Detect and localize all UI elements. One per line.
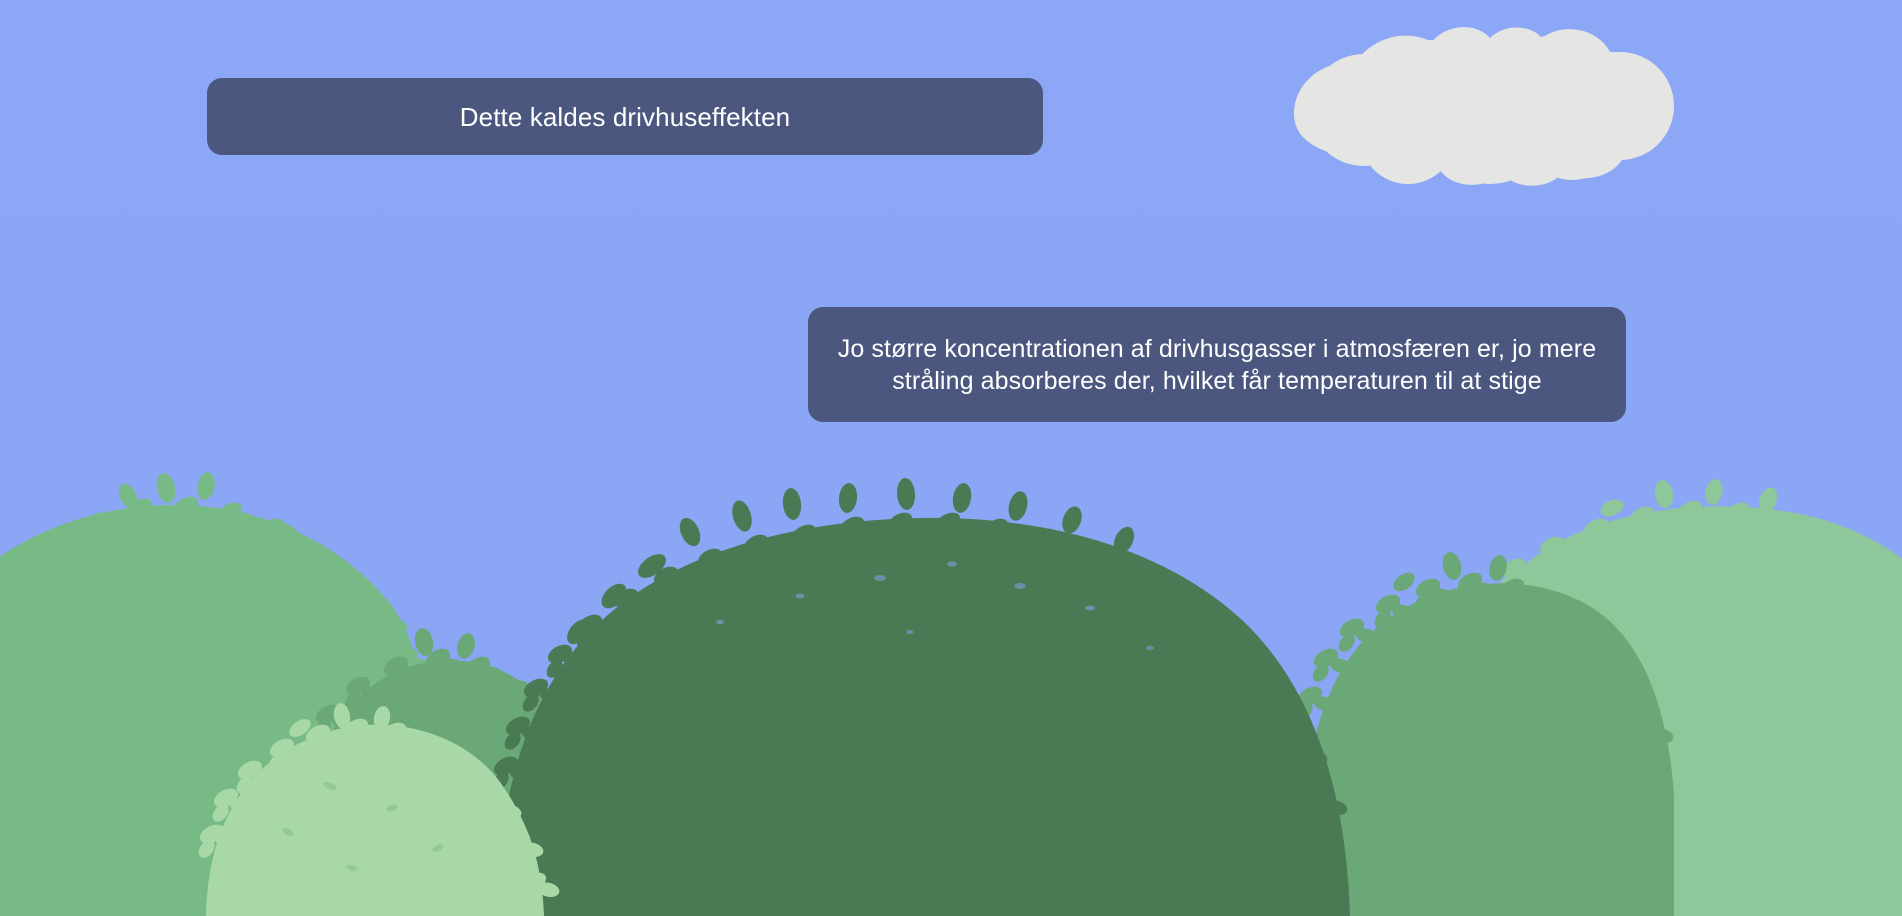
greenhouse-effect-scene: Dette kaldes drivhuseffekten Jo større k…: [0, 0, 1902, 916]
bush-foliage: [0, 436, 1902, 916]
cloud-icon: [1280, 18, 1700, 198]
explanation-text: Jo større koncentrationen af drivhusgass…: [808, 333, 1626, 397]
headline-text-panel: Dette kaldes drivhuseffekten: [207, 78, 1043, 155]
bush-front-center: [489, 477, 1350, 916]
headline-text: Dette kaldes drivhuseffekten: [207, 102, 1043, 132]
explanation-text-panel: Jo større koncentrationen af drivhusgass…: [808, 307, 1626, 422]
